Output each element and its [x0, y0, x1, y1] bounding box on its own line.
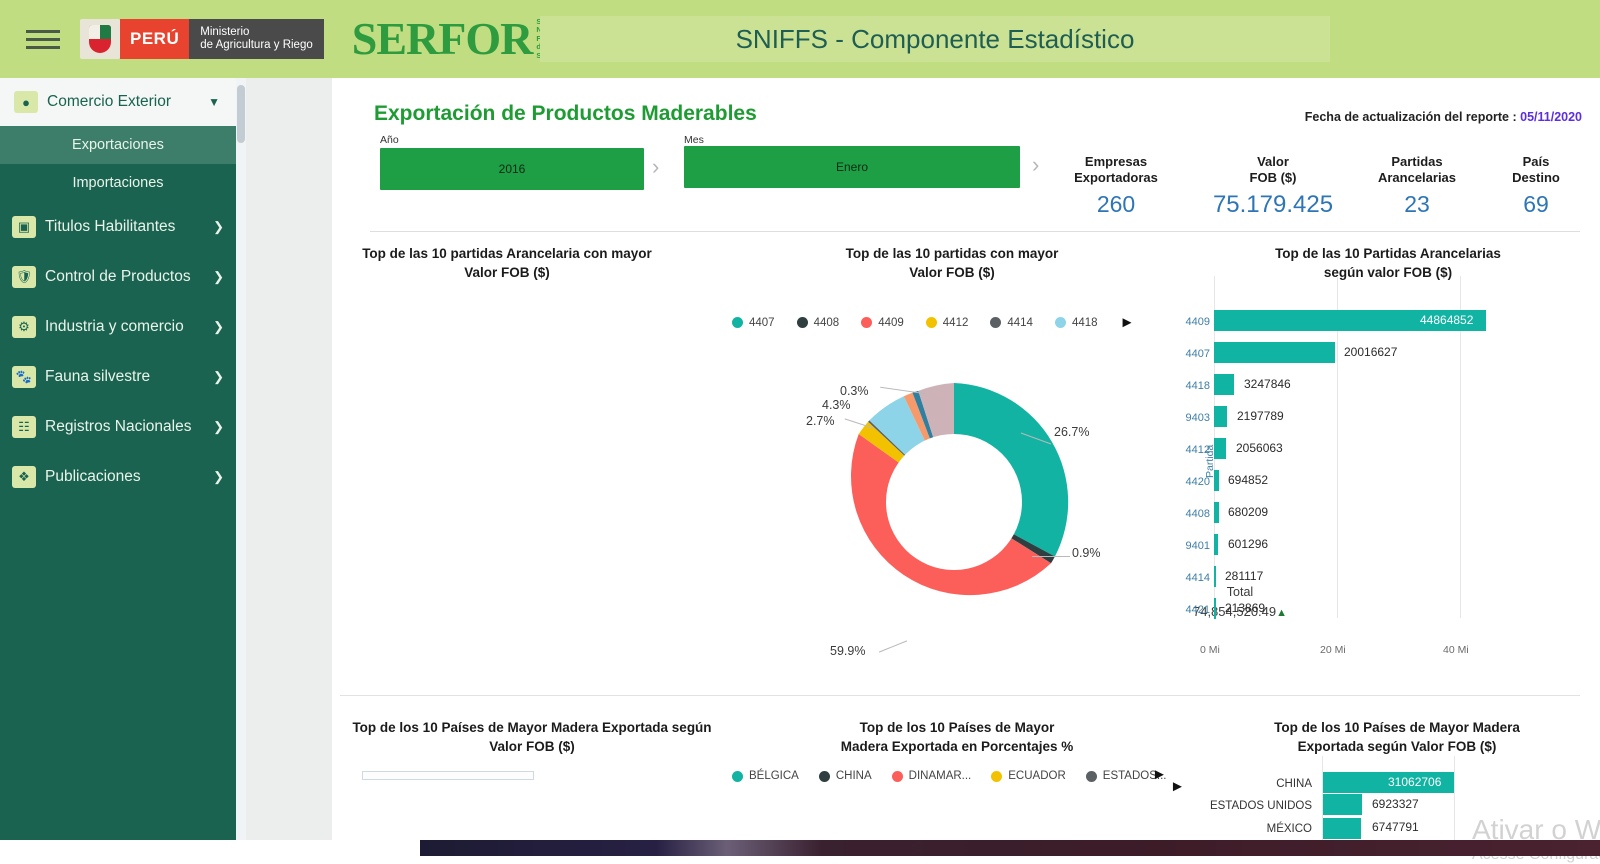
menu-icon[interactable] [14, 30, 72, 49]
legend-item[interactable]: 4407 [732, 317, 775, 329]
donut-center-label: Total [1170, 583, 1310, 602]
chevron-down-icon[interactable]: ▼ [208, 95, 220, 109]
gear-icon: ⚙ [12, 316, 36, 338]
ministry-label: Ministerio de Agricultura y Riego [189, 19, 324, 59]
slicer-label-mes: Mes [684, 134, 704, 146]
bar-category-label: 4412 [1164, 444, 1210, 456]
legend-item[interactable]: 4409 [861, 317, 904, 329]
paw-icon: 🐾 [12, 366, 36, 388]
sidebar-item-comercio-exterior[interactable]: ● Comercio Exterior ▼ [0, 78, 236, 126]
slicer-label-ano: Año [380, 134, 399, 146]
chart-title-right-bottom: Top de los 10 Países de Mayor Madera Exp… [1212, 718, 1582, 756]
donut-label-59-9: 59.9% [830, 644, 865, 658]
sidebar-item-label: Fauna silvestre [45, 368, 150, 386]
sidebar-item-titulos-habilitantes[interactable]: ▣ Titulos Habilitantes ❯ [0, 202, 236, 252]
bar-4414[interactable] [1214, 566, 1216, 587]
kpi-value: 75.179.425 [1194, 191, 1352, 219]
bar-value-label: 694852 [1228, 473, 1268, 487]
globe-icon: ● [14, 91, 38, 113]
kpi-empresas-exportadoras: Empresas Exportadoras 260 [1048, 154, 1184, 218]
chart-title-left-top: Top de las 10 partidas Arancelaria con m… [352, 244, 662, 282]
report-canvas: Exportación de Productos Maderables Fech… [332, 78, 1600, 856]
bar-category-label: 4414 [1164, 572, 1210, 584]
kpi-pais-destino: País Destino 69 [1484, 154, 1588, 218]
legend-swatch-icon [892, 771, 903, 782]
kpi-value: 23 [1342, 191, 1492, 218]
legend-item[interactable]: 4408 [797, 317, 840, 329]
sidebar-item-exportaciones[interactable]: Exportaciones [0, 126, 236, 164]
bar-4421[interactable] [1214, 598, 1216, 619]
sidebar-item-industria-y-comercio[interactable]: ⚙ Industria y comercio ❯ [0, 302, 236, 352]
report-update-label: Fecha de actualización del reporte : [1305, 110, 1517, 124]
slicer-mes[interactable]: Enero [684, 146, 1020, 188]
kpi-label-line1: País [1523, 154, 1550, 169]
kpi-value: 69 [1484, 191, 1588, 218]
title-line1: Top de los 10 Países de Mayor Madera [1274, 720, 1520, 735]
x-tick-40: 40 Mi [1443, 644, 1469, 656]
sidebar-item-registros-nacionales[interactable]: ☷ Registros Nacionales ❯ [0, 402, 236, 452]
sidebar-item-label: Titulos Habilitantes [45, 218, 175, 236]
x-tick-0: 0 Mi [1200, 644, 1220, 656]
bar-value-label: 680209 [1228, 505, 1268, 519]
bar-estados-unidos[interactable] [1322, 794, 1362, 815]
app-title: SNIFFS - Componente Estadístico [736, 24, 1135, 55]
sidebar-item-fauna-silvestre[interactable]: 🐾 Fauna silvestre ❯ [0, 352, 236, 402]
serfor-wordmark: SERFOR [352, 16, 533, 62]
kpi-label-line1: Empresas [1085, 154, 1147, 169]
bar-category-label: 4418 [1164, 380, 1210, 392]
slicer-ano[interactable]: 2016 [380, 148, 644, 190]
app-title-bar: SNIFFS - Componente Estadístico [540, 16, 1330, 62]
chevron-right-icon[interactable]: › [1032, 152, 1039, 178]
kpi-label-line1: Valor [1257, 154, 1289, 169]
bar-category-label: 4408 [1164, 508, 1210, 520]
donut-hole [886, 434, 1022, 570]
legend-item[interactable]: 4412 [926, 317, 969, 329]
bar-value-label: 213869 [1225, 601, 1265, 615]
bar-9403[interactable] [1214, 406, 1227, 427]
x-tick-20: 20 Mi [1320, 644, 1346, 656]
legend-swatch-icon [732, 771, 743, 782]
chevron-right-icon: ❯ [213, 469, 224, 485]
bar-4408[interactable] [1214, 502, 1219, 523]
bar-value-label: 44864852 [1420, 313, 1473, 327]
title-line2: Madera Exportada en Porcentajes % [841, 739, 1074, 754]
bar-value-label: 281117 [1225, 569, 1263, 583]
title-line1: Top de las 10 partidas Arancelaria con m… [362, 246, 652, 261]
bar-4407[interactable] [1214, 342, 1335, 363]
peru-label: PERÚ [120, 19, 189, 59]
bar-4412[interactable] [1214, 438, 1226, 459]
gov-logo: PERÚ Ministerio de Agricultura y Riego [80, 19, 324, 59]
legend-swatch-icon [861, 317, 872, 328]
legend-label: 4408 [814, 317, 840, 329]
bar-value-label: 20016627 [1344, 345, 1397, 359]
kpi-value: 260 [1048, 191, 1184, 218]
slicer-ano-value: 2016 [499, 162, 526, 176]
donut-label-4-3: 4.3% [822, 398, 851, 412]
grid-line [1454, 756, 1455, 842]
chevron-right-icon: ❯ [213, 319, 224, 335]
triangle-up-icon: ▲ [1276, 607, 1287, 619]
legend-swatch-icon [990, 317, 1001, 328]
ministry-line2: de Agricultura y Riego [200, 39, 313, 52]
sidebar-item-label: Comercio Exterior [47, 93, 171, 111]
report-update-date: Fecha de actualización del reporte : 05/… [1305, 110, 1582, 124]
bar-country-label: MÉXICO [1182, 823, 1312, 835]
sidebar-item-importaciones[interactable]: Importaciones [0, 164, 236, 202]
chart-title-left-bottom: Top de los 10 Países de Mayor Madera Exp… [342, 718, 722, 756]
chevron-right-icon: ❯ [213, 419, 224, 435]
page-title: Exportación de Productos Maderables [374, 102, 757, 126]
kpi-label-line2: Arancelarias [1378, 170, 1456, 185]
sidebar-item-control-de-productos[interactable]: 🛡 Control de Productos ❯ [0, 252, 236, 302]
bar-value-label: 6747791 [1372, 820, 1419, 834]
bar-9401[interactable] [1214, 534, 1218, 555]
legend-label: 4409 [878, 317, 904, 329]
title-line1: Top de los 10 Países de Mayor [860, 720, 1055, 735]
legend-label: BÉLGICA [749, 770, 799, 782]
kpi-valor-fob: Valor FOB ($) 75.179.425 [1194, 154, 1352, 219]
donut-label-26-7: 26.7% [1054, 425, 1089, 439]
serfor-logo: SERFOR Servicio Nacional Forestal y de F… [352, 16, 572, 62]
bar-category-label: 4409 [1164, 316, 1210, 328]
legend-item[interactable]: ECUADOR [991, 770, 1066, 782]
bar-value-label: 2197789 [1237, 409, 1284, 423]
slicer-mes-value: Enero [836, 160, 868, 174]
legend-swatch-icon [797, 317, 808, 328]
bar-value-label: 6923327 [1372, 797, 1419, 811]
legend-label: ECUADOR [1008, 770, 1066, 782]
sidebar-scrollbar[interactable] [236, 78, 246, 856]
peru-coat-of-arms-icon [80, 19, 120, 59]
kpi-label-line2: Destino [1512, 170, 1560, 185]
donut-label-0-3: 0.3% [840, 384, 869, 398]
chart-title-mid-bottom: Top de los 10 Países de Mayor Madera Exp… [792, 718, 1122, 756]
divider [340, 695, 1580, 696]
page-gutter [246, 78, 332, 856]
legend-item[interactable]: 4418 [1055, 317, 1098, 329]
sidebar: ● Comercio Exterior ▼ Exportaciones Impo… [0, 78, 236, 856]
layers-icon: ❖ [12, 466, 36, 488]
title-line2: Valor FOB ($) [489, 739, 575, 754]
legend-label: 4418 [1072, 317, 1098, 329]
legend-item[interactable]: 4414 [990, 317, 1033, 329]
kpi-label-line2: FOB ($) [1250, 170, 1297, 185]
sidebar-item-label: Control de Productos [45, 268, 191, 286]
leader-line [1032, 556, 1070, 557]
legend-item[interactable]: BÉLGICA [732, 770, 799, 782]
bar-4418[interactable] [1214, 374, 1234, 395]
donut-label-0-9: 0.9% [1072, 546, 1101, 560]
title-line1: Top de las 10 Partidas Arancelarias [1275, 246, 1501, 261]
legend-item[interactable]: CHINA [819, 770, 872, 782]
legend-swatch-icon [926, 317, 937, 328]
bar-category-label: 4421 [1164, 604, 1210, 616]
bar-value-label: 601296 [1228, 537, 1268, 551]
play-right-icon[interactable]: ► [1152, 766, 1167, 783]
chart-title-right-top: Top de las 10 Partidas Arancelarias segú… [1198, 244, 1578, 282]
grid-line [1322, 756, 1323, 842]
title-line2: Exportada según Valor FOB ($) [1298, 739, 1497, 754]
sidebar-subitem-label: Importaciones [72, 175, 163, 191]
chevron-right-icon: ❯ [213, 269, 224, 285]
scrollbar-thumb[interactable] [237, 85, 245, 143]
legend-swatch-icon [732, 317, 743, 328]
taskbar-left-blank [0, 840, 420, 856]
divider [370, 231, 1580, 232]
chevron-right-icon: ❯ [213, 219, 224, 235]
bar-value-label: 2056063 [1236, 441, 1283, 455]
legend-label: DINAMAR... [909, 770, 972, 782]
app-header: PERÚ Ministerio de Agricultura y Riego S… [0, 0, 1600, 78]
ministry-line1: Ministerio [200, 26, 313, 39]
document-icon: ▣ [12, 216, 36, 238]
countries-legend: BÉLGICA CHINA DINAMAR... ECUADOR ESTADOS… [732, 770, 1166, 782]
title-line1: Top de las 10 partidas con mayor [846, 246, 1059, 261]
leader-line [879, 640, 907, 652]
bar-mexico[interactable] [1322, 818, 1361, 839]
chevron-right-icon: ❯ [213, 369, 224, 385]
shield-icon: 🛡 [12, 266, 36, 288]
sidebar-item-publicaciones[interactable]: ❖ Publicaciones ❯ [0, 452, 236, 502]
legend-item[interactable]: DINAMAR... [892, 770, 972, 782]
sidebar-item-label: Industria y comercio [45, 318, 184, 336]
bar-value-label: 31062706 [1388, 775, 1441, 789]
legend-label: 4412 [943, 317, 969, 329]
sidebar-item-label: Registros Nacionales [45, 418, 191, 436]
chevron-right-icon[interactable]: › [652, 154, 659, 180]
title-line1: Top de los 10 Países de Mayor Madera Exp… [352, 720, 711, 735]
bar-category-label: 9401 [1164, 540, 1210, 552]
legend-label: 4407 [749, 317, 775, 329]
book-icon: ☷ [12, 416, 36, 438]
bar-country-label: ESTADOS UNIDOS [1182, 800, 1312, 812]
sidebar-item-label: Publicaciones [45, 468, 141, 486]
donut-chart-partidas[interactable] [820, 368, 1088, 636]
title-line2: Valor FOB ($) [464, 265, 550, 280]
donut-legend: 4407 4408 4409 4412 4414 4418 ► [732, 314, 1172, 331]
title-line2: Valor FOB ($) [909, 265, 995, 280]
kpi-partidas-arancelarias: Partidas Arancelarias 23 [1342, 154, 1492, 218]
play-right-icon[interactable]: ► [1120, 314, 1135, 331]
bar-category-label: 4407 [1164, 348, 1210, 360]
donut-label-2-7: 2.7% [806, 414, 835, 428]
chart-title-mid-top: Top de las 10 partidas con mayor Valor F… [772, 244, 1132, 282]
title-line2: según valor FOB ($) [1324, 265, 1452, 280]
report-update-value: 05/11/2020 [1520, 110, 1582, 124]
kpi-label-line1: Partidas [1391, 154, 1442, 169]
legend-swatch-icon [991, 771, 1002, 782]
sidebar-subitem-label: Exportaciones [72, 137, 164, 153]
kpi-label-line2: Exportadoras [1074, 170, 1158, 185]
legend-swatch-icon [1055, 317, 1066, 328]
legend-swatch-icon [819, 771, 830, 782]
bar-country-label: CHINA [1182, 778, 1312, 790]
bar-4420[interactable] [1214, 470, 1219, 491]
legend-label: CHINA [836, 770, 872, 782]
taskbar[interactable] [420, 840, 1600, 856]
chart-scrollbar[interactable] [362, 771, 534, 780]
bar-value-label: 3247846 [1244, 377, 1291, 391]
bar-category-label: 9403 [1164, 412, 1210, 424]
legend-swatch-icon [1086, 771, 1097, 782]
legend-label: 4414 [1007, 317, 1033, 329]
bar-category-label: 4420 [1164, 476, 1210, 488]
